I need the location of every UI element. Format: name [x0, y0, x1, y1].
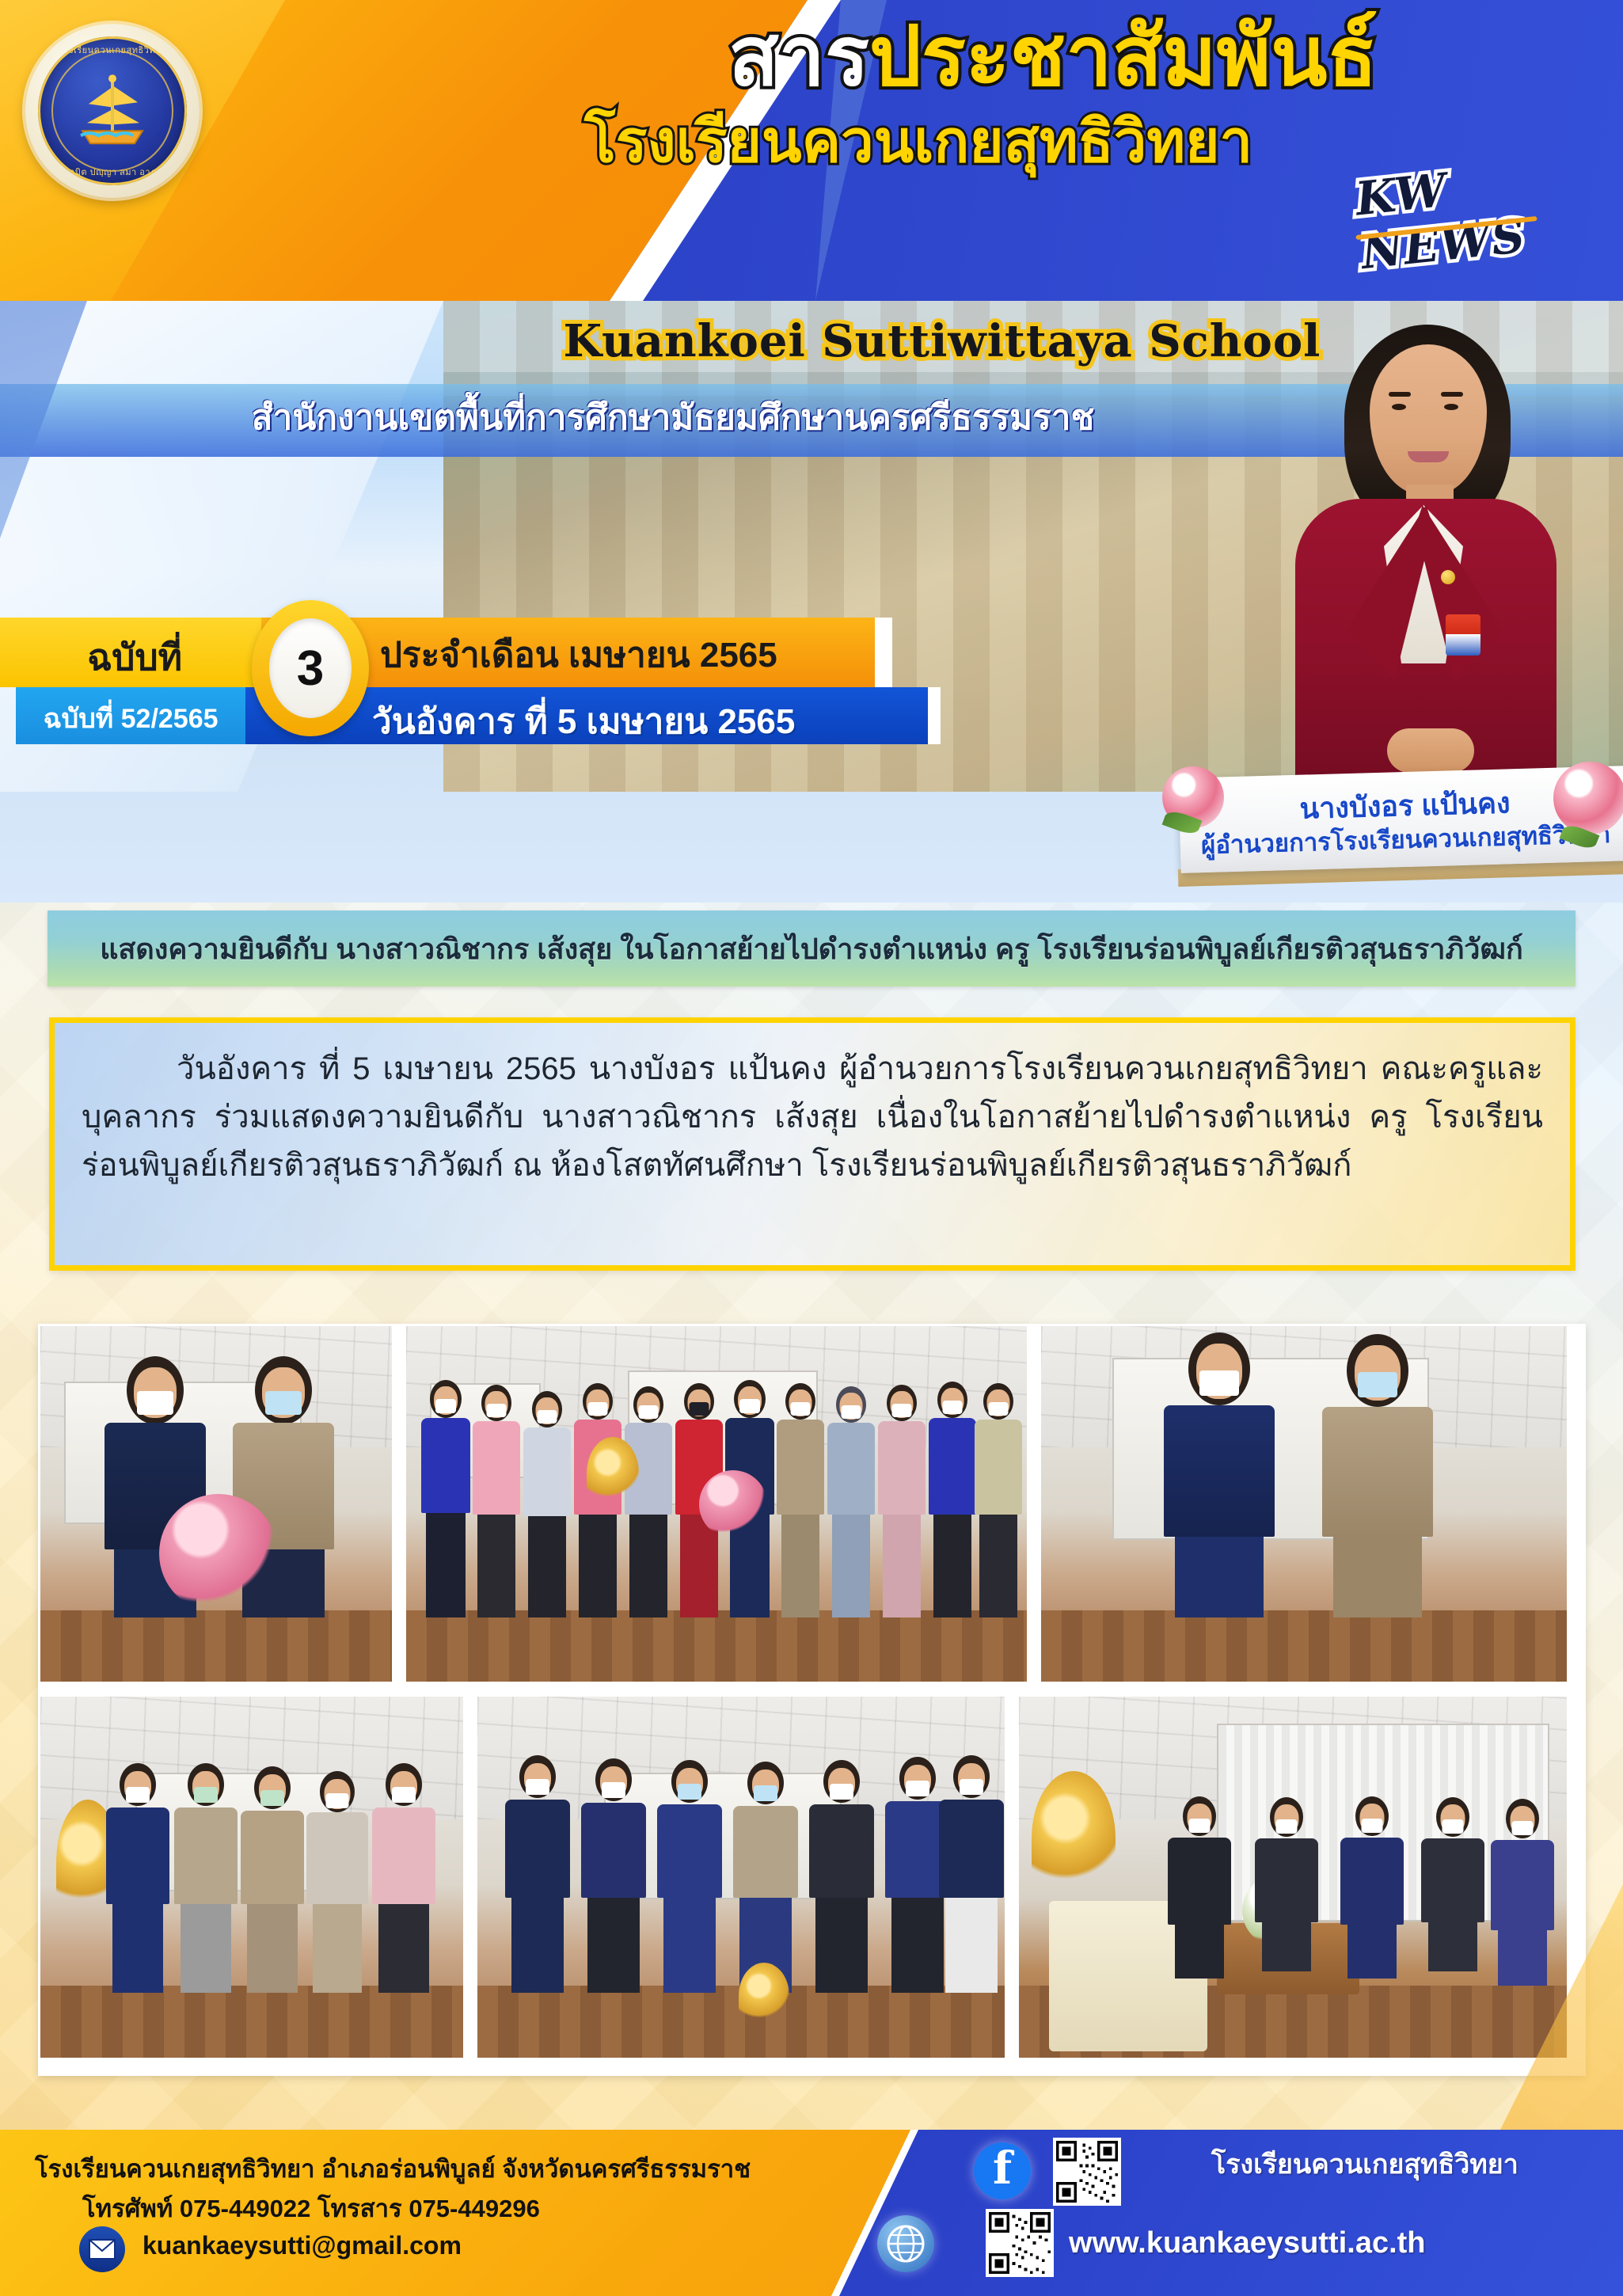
photo-person	[653, 1755, 726, 1993]
photo-person	[1484, 1799, 1560, 1986]
school-seal-inner: โรงเรียนควนเกยสุทธิวิทยา นฤมิต ปญฺญา สมา…	[38, 36, 187, 185]
photo-person	[577, 1755, 650, 1993]
photo-person	[302, 1763, 373, 1993]
flower-stand-icon	[587, 1437, 639, 1510]
photo-person	[973, 1380, 1024, 1617]
photo-person	[1334, 1796, 1410, 1979]
photo-person	[775, 1380, 826, 1617]
photo-person	[237, 1763, 308, 1993]
photo-floor	[40, 1986, 463, 2058]
photo-person	[1161, 1796, 1237, 1979]
headline-text: แสดงความยินดีกับ นางสาวณิชากร เส้งสุย ใน…	[100, 926, 1523, 971]
bouquet-icon	[159, 1494, 278, 1613]
issue-number: 3	[269, 618, 352, 718]
bouquet-icon	[699, 1470, 767, 1538]
director-eye-left	[1392, 404, 1406, 410]
photo-person	[927, 1380, 978, 1617]
photo-person	[522, 1380, 572, 1617]
issue-serial: ฉบับที่ 52/2565	[22, 697, 239, 739]
envelope-icon	[79, 2226, 125, 2272]
photo-person	[1415, 1797, 1491, 1971]
article-paragraph: วันอังคาร ที่ 5 เมษายน 2565 นางบังอร แป้…	[82, 1045, 1543, 1189]
collage-photo-2[interactable]	[404, 1324, 1029, 1684]
photo-person	[1302, 1332, 1453, 1617]
photo-person	[420, 1380, 471, 1617]
photo-person	[368, 1763, 439, 1993]
photo-person	[1249, 1797, 1325, 1971]
photo-person	[170, 1763, 241, 1993]
collage-photo-1[interactable]	[38, 1324, 394, 1684]
photo-person	[102, 1763, 173, 1993]
footer-phone: โทรศัพท์ 075-449022 โทรสาร 075-449296	[82, 2188, 540, 2228]
person-mask-icon	[137, 1391, 173, 1415]
seal-ring-text: โรงเรียนควนเกยสุทธิวิทยา นฤมิต ปญฺญา สมา…	[38, 36, 187, 185]
person-mask-icon	[265, 1391, 302, 1415]
photo-floor	[1041, 1610, 1567, 1682]
photo-collage	[38, 1324, 1586, 2076]
director-face	[1370, 344, 1487, 495]
footer-address: โรงเรียนควนเกยสุทธิวิทยา อำเภอร่อนพิบูลย…	[35, 2149, 751, 2188]
director-portrait	[1251, 301, 1591, 808]
school-name-th: โรงเรียนควนเกยสุทธิวิทยา	[443, 111, 1393, 173]
photo-person	[471, 1380, 522, 1617]
flower-decoration-right-icon	[1553, 762, 1623, 834]
school-seal: โรงเรียนควนเกยสุทธิวิทยา นฤมิต ปญฺญา สมา…	[25, 24, 200, 198]
photo-person	[876, 1380, 927, 1617]
facebook-glyph: f	[993, 2146, 1012, 2191]
sailing-ship-icon	[65, 69, 160, 156]
article-body-box: วันอังคาร ที่ 5 เมษายน 2565 นางบังอร แป้…	[49, 1017, 1575, 1271]
poster-canvas: โรงเรียนควนเกยสุทธิวิทยา นฤมิต ปญฺญา สมา…	[0, 0, 1623, 2296]
seal-bottom-text: นฤมิต ปญฺญา สมา อาภา	[63, 165, 162, 179]
facebook-icon[interactable]: f	[974, 2142, 1031, 2199]
photo-person	[501, 1755, 574, 1993]
director-eye-right	[1444, 404, 1458, 410]
photo-floor	[406, 1610, 1027, 1682]
photo-person	[935, 1755, 1007, 1993]
photo-person	[805, 1755, 878, 1993]
photo-person	[1144, 1332, 1294, 1617]
issue-month: ประจำเดือน เมษายน 2565	[380, 627, 871, 682]
collage-photo-6[interactable]	[1017, 1694, 1569, 2060]
poster-header: โรงเรียนควนเกยสุทธิวิทยา นฤมิต ปญฺญา สมา…	[0, 0, 1623, 301]
issue-blue-edge	[928, 687, 941, 744]
issue-date: วันอังคาร ที่ 5 เมษายน 2565	[372, 694, 895, 749]
page-title: สารประชาสัมพันธ์	[554, 14, 1552, 101]
director-pin-icon	[1441, 570, 1455, 584]
photo-person	[729, 1755, 802, 1993]
flower-stand-icon	[1032, 1771, 1116, 1906]
collage-photo-4[interactable]	[38, 1694, 466, 2060]
director-brow-left	[1389, 392, 1411, 397]
qr-code-facebook	[1053, 2138, 1121, 2206]
flower-stand-icon	[739, 1963, 789, 2029]
collage-photo-3[interactable]	[1039, 1324, 1569, 1684]
photo-person	[826, 1380, 876, 1617]
director-mouth	[1408, 451, 1449, 462]
collage-photo-5[interactable]	[475, 1694, 1007, 2060]
qr-code-pattern	[1056, 2141, 1118, 2203]
issue-banner: ฉบับที่ 3 ประจำเดือน เมษายน 2565 ฉบับที่…	[0, 618, 970, 744]
area-office-label: สำนักงานเขตพื้นที่การศึกษามัธยมศึกษานครศ…	[0, 390, 1346, 445]
issue-label: ฉบับที่	[32, 629, 238, 686]
headline-banner: แสดงความยินดีกับ นางสาวณิชากร เส้งสุย ใน…	[48, 910, 1575, 986]
director-badge-icon	[1446, 614, 1480, 656]
seal-top-text: โรงเรียนควนเกยสุทธิวิทยา	[59, 43, 165, 57]
footer-facebook-name[interactable]: โรงเรียนควนเกยสุทธิวิทยา	[1211, 2142, 1518, 2185]
footer-email[interactable]: kuankaeysutti@gmail.com	[143, 2231, 462, 2260]
title-part-2: ประชาสัมพันธ์	[869, 11, 1378, 103]
globe-icon[interactable]	[877, 2215, 934, 2272]
globe-glyph	[886, 2224, 926, 2264]
director-brow-right	[1441, 392, 1463, 397]
footer-website[interactable]: www.kuankaeysutti.ac.th	[1069, 2226, 1426, 2260]
title-part-1: สาร	[728, 11, 869, 103]
director-hands	[1387, 728, 1474, 773]
photo-floor	[40, 1610, 392, 1682]
issue-orange-edge	[875, 618, 892, 687]
issue-number-badge: 3	[252, 600, 369, 736]
qr-code-pattern	[989, 2212, 1051, 2274]
qr-code-website	[986, 2209, 1054, 2277]
